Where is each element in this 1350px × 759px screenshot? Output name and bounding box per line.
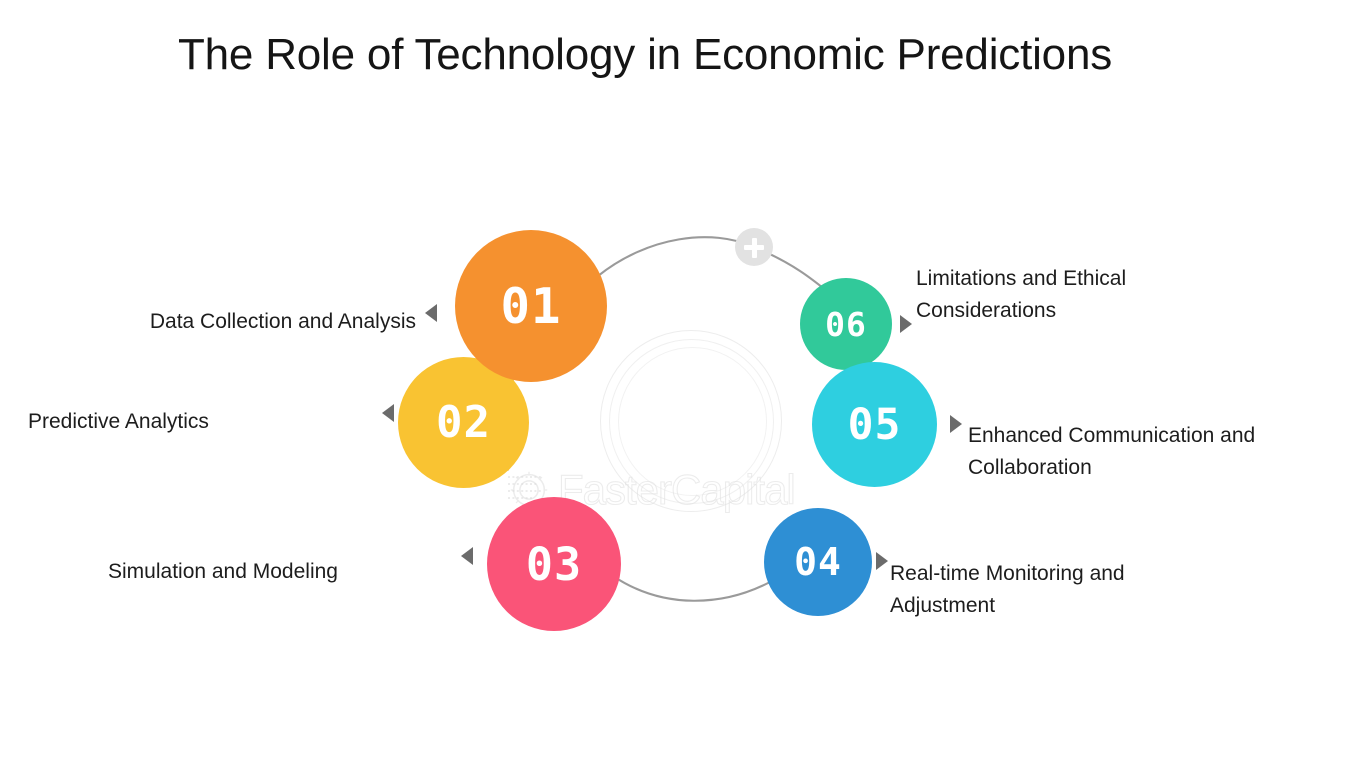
node-label-05: Enhanced Communication and Collaboration [968, 420, 1324, 484]
plus-icon-vertical-bar [752, 238, 757, 258]
decorative-ring-inner [618, 347, 767, 496]
arrow-marker-03 [461, 547, 473, 565]
connector-arcs [0, 0, 1350, 759]
node-label-01: Data Collection and Analysis [66, 306, 416, 338]
node-number-01: 01 [500, 278, 561, 335]
arrow-marker-06 [900, 315, 912, 333]
arrow-marker-01 [425, 304, 437, 322]
arrow-marker-02 [382, 404, 394, 422]
infographic-canvas: The Role of Technology in Economic Predi… [0, 0, 1350, 759]
node-number-02: 02 [436, 397, 491, 448]
node-label-04: Real-time Monitoring and Adjustment [890, 558, 1190, 622]
page-title: The Role of Technology in Economic Predi… [0, 26, 1290, 84]
decorative-ring-middle [609, 339, 774, 504]
node-label-02: Predictive Analytics [28, 406, 372, 438]
node-number-06: 06 [825, 305, 867, 344]
node-number-05: 05 [848, 400, 902, 450]
node-circle-04[interactable]: 04 [764, 508, 872, 616]
decorative-ring-outer [600, 330, 782, 512]
node-circle-03[interactable]: 03 [487, 497, 621, 631]
watermark-text: FasterCapital [558, 467, 795, 513]
node-label-03: Simulation and Modeling [108, 556, 452, 588]
node-number-03: 03 [526, 538, 582, 591]
node-label-06: Limitations and Ethical Considerations [916, 263, 1196, 327]
node-number-04: 04 [794, 540, 842, 584]
plus-icon[interactable] [735, 228, 773, 266]
arrow-marker-05 [950, 415, 962, 433]
node-circle-06[interactable]: 06 [800, 278, 892, 370]
node-circle-01[interactable]: 01 [455, 230, 607, 382]
node-circle-05[interactable]: 05 [812, 362, 937, 487]
arrow-marker-04 [876, 552, 888, 570]
